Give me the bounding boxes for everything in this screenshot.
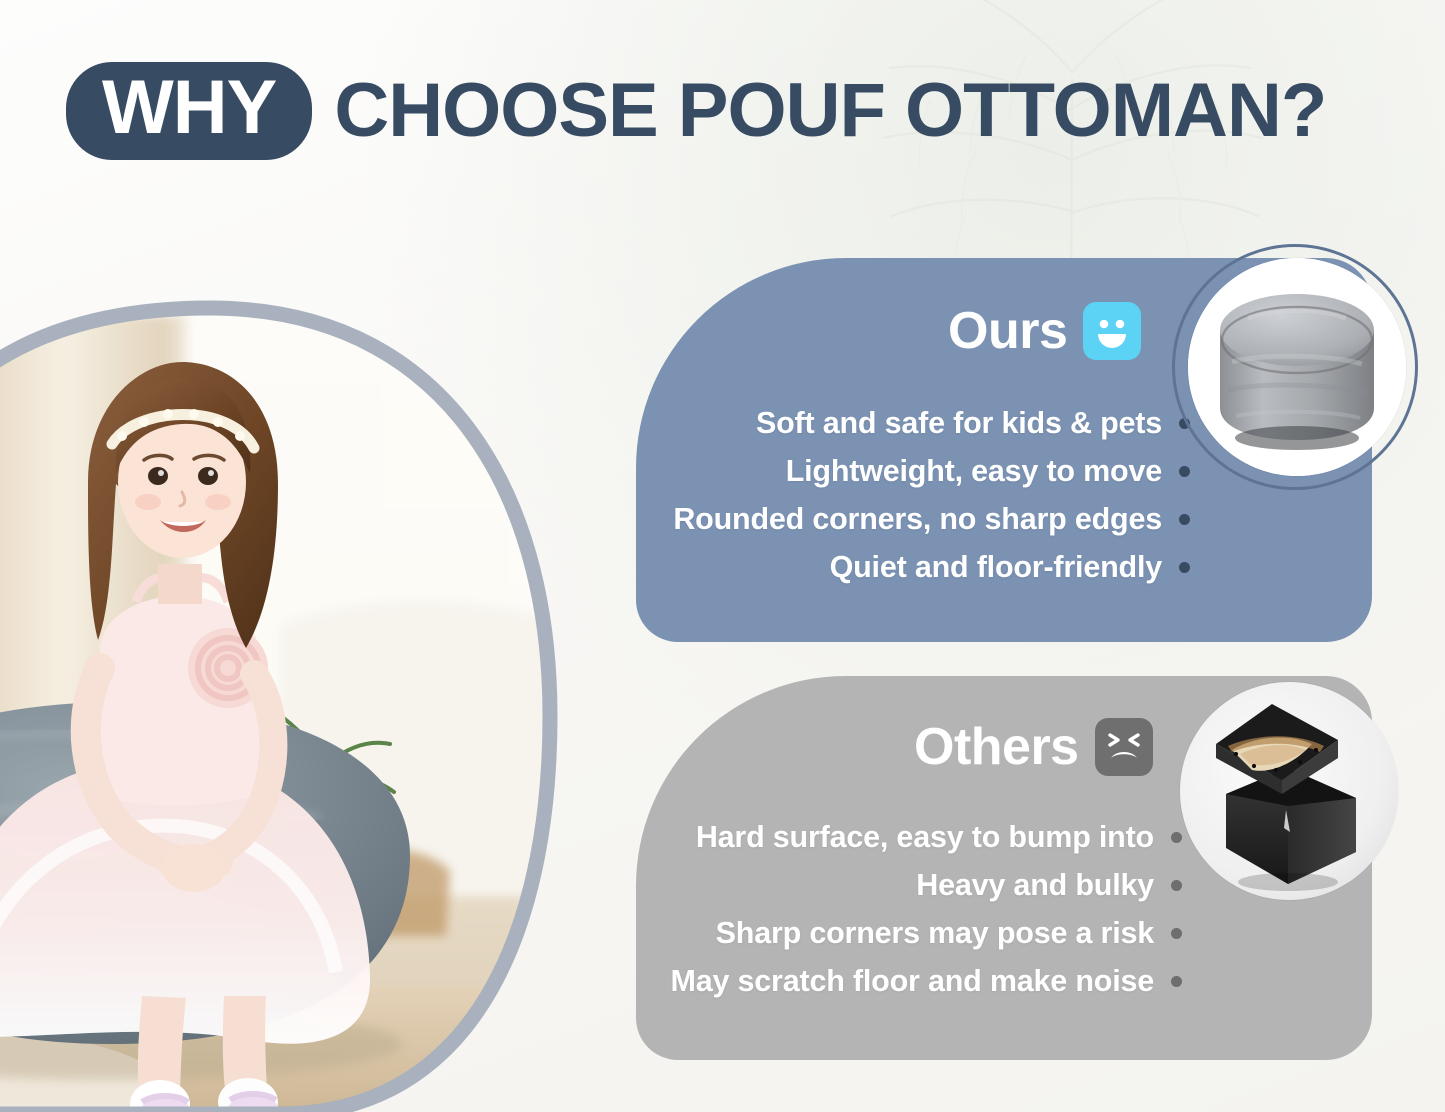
ours-bullet-text: Rounded corners, no sharp edges bbox=[673, 500, 1162, 539]
others-bullet-text: Heavy and bulky bbox=[916, 866, 1154, 905]
list-item: Hard surface, easy to bump into bbox=[696, 818, 1182, 857]
list-item: Soft and safe for kids & pets bbox=[756, 404, 1190, 443]
others-title: Others bbox=[914, 721, 1079, 773]
list-item: Sharp corners may pose a risk bbox=[716, 914, 1182, 953]
others-panel-header: Others bbox=[914, 718, 1153, 776]
bullet-dot-icon bbox=[1171, 976, 1182, 987]
others-product-image bbox=[1180, 682, 1398, 900]
ours-title: Ours bbox=[948, 305, 1067, 357]
list-item: Lightweight, easy to move bbox=[786, 452, 1190, 491]
bullet-dot-icon bbox=[1179, 562, 1190, 573]
bullet-dot-icon bbox=[1171, 928, 1182, 939]
others-bullet-text: Hard surface, easy to bump into bbox=[696, 818, 1154, 857]
title-text: CHOOSE POUF OTTOMAN? bbox=[334, 73, 1326, 149]
ours-bullet-list: Soft and safe for kids & pets Lightweigh… bbox=[636, 404, 1190, 587]
frowning-squint-face-icon bbox=[1095, 718, 1153, 776]
others-bullet-text: Sharp corners may pose a risk bbox=[716, 914, 1154, 953]
bullet-dot-icon bbox=[1179, 466, 1190, 477]
hero-photo bbox=[0, 296, 610, 1112]
ours-bullet-text: Soft and safe for kids & pets bbox=[756, 404, 1162, 443]
smiling-face-icon bbox=[1083, 302, 1141, 360]
bullet-dot-icon bbox=[1171, 832, 1182, 843]
list-item: May scratch floor and make noise bbox=[671, 962, 1182, 1001]
bullet-dot-icon bbox=[1171, 880, 1182, 891]
list-item: Heavy and bulky bbox=[916, 866, 1182, 905]
page-title: WHY CHOOSE POUF OTTOMAN? bbox=[66, 62, 1326, 160]
others-bullet-text: May scratch floor and make noise bbox=[671, 962, 1154, 1001]
list-item: Quiet and floor-friendly bbox=[830, 548, 1190, 587]
ours-panel-header: Ours bbox=[948, 302, 1141, 360]
others-bullet-list: Hard surface, easy to bump into Heavy an… bbox=[636, 818, 1182, 1001]
ours-product-image bbox=[1188, 258, 1406, 476]
bullet-dot-icon bbox=[1179, 514, 1190, 525]
why-badge: WHY bbox=[66, 62, 312, 160]
infographic-canvas: WHY CHOOSE POUF OTTOMAN? bbox=[0, 0, 1445, 1112]
list-item: Rounded corners, no sharp edges bbox=[673, 500, 1190, 539]
ours-bullet-text: Lightweight, easy to move bbox=[786, 452, 1162, 491]
ours-bullet-text: Quiet and floor-friendly bbox=[830, 548, 1162, 587]
